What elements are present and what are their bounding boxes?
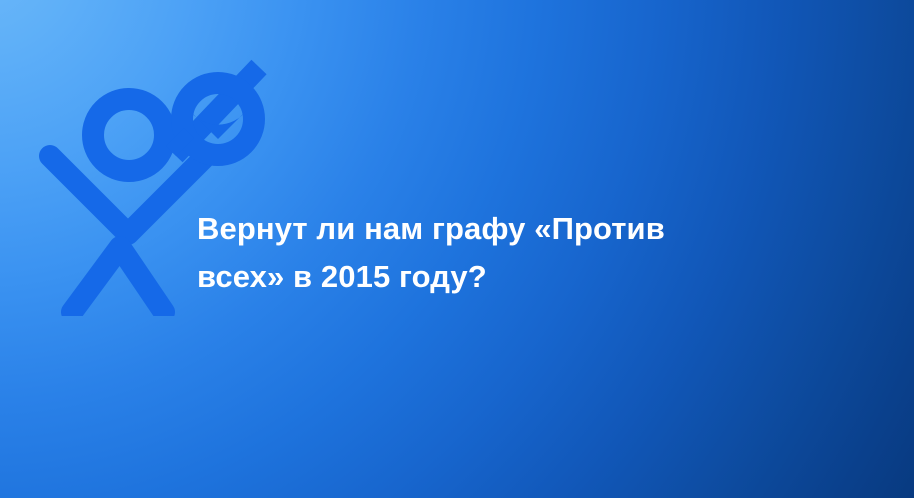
logo-left-ring-icon [93, 99, 165, 171]
page-title: Вернут ли нам графу «Против всех» в 2015… [197, 205, 837, 301]
logo-diagonal-stroke-icon [175, 67, 259, 155]
promo-card: Вернут ли нам графу «Против всех» в 2015… [0, 0, 914, 498]
logo-stroke-notch-icon [166, 128, 194, 156]
logo-check-chevron-icon [189, 110, 247, 139]
logo-right-ring-icon [182, 83, 254, 155]
logo-arms-icon [50, 156, 206, 234]
logo-legs-icon [72, 247, 164, 312]
